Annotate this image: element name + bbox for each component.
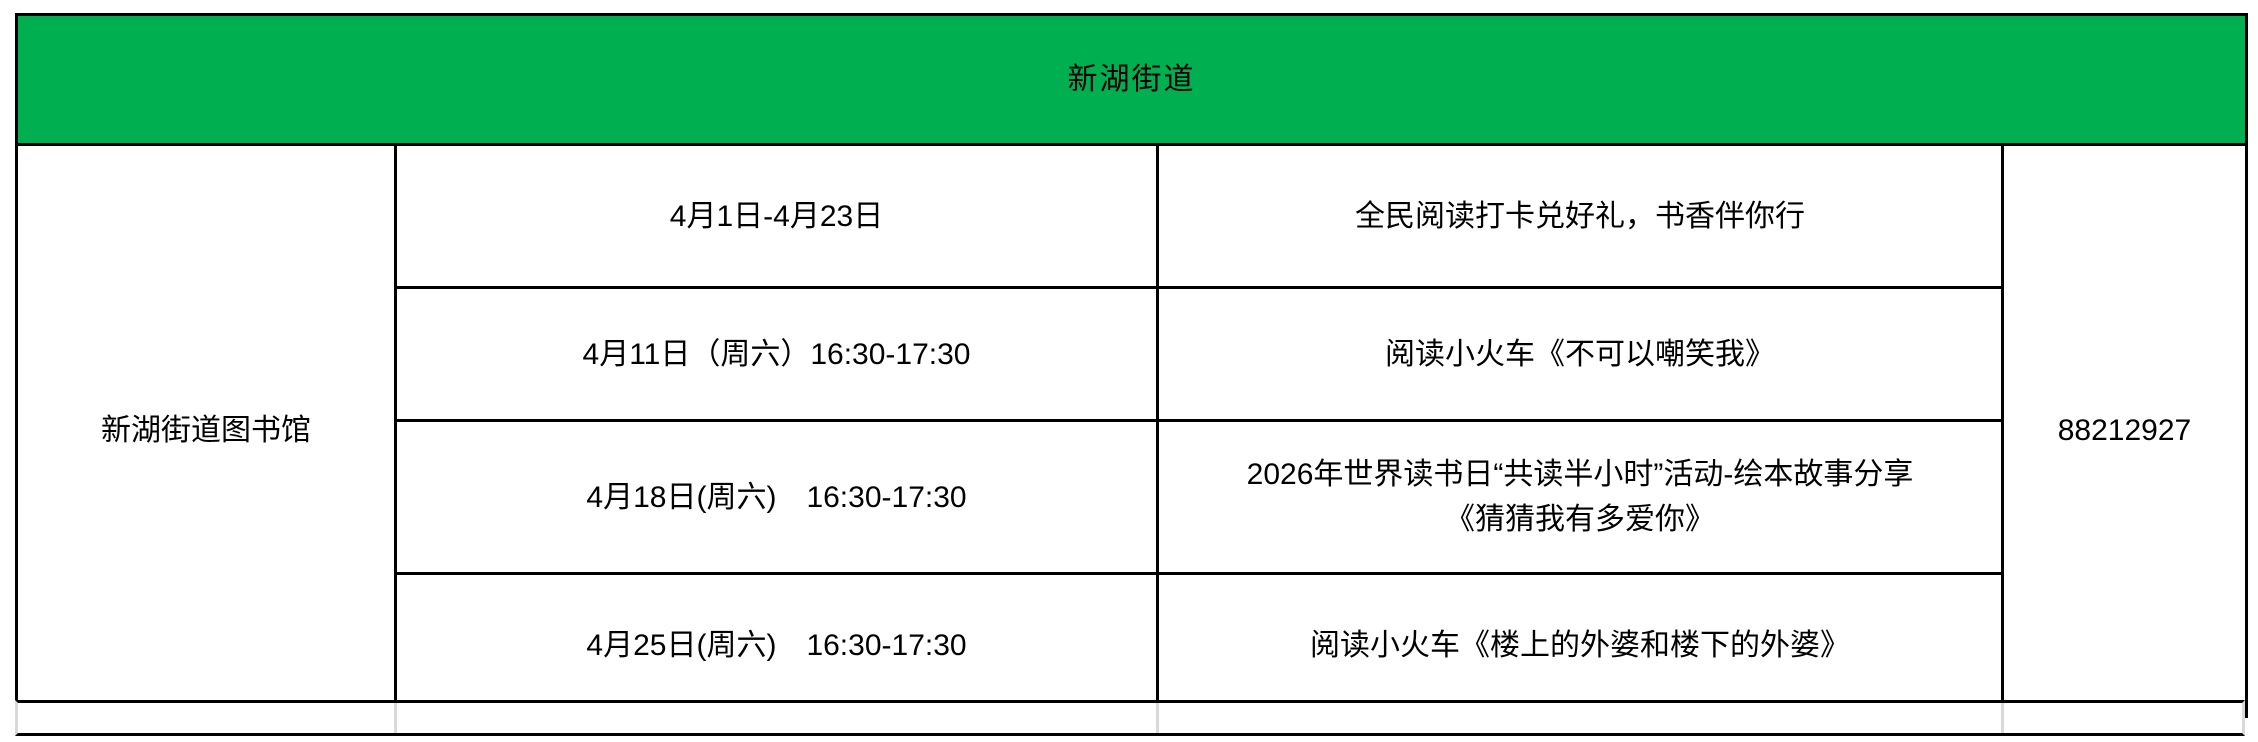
activity-line: 阅读小火车《楼上的外婆和楼下的外婆》 (1159, 623, 2001, 668)
date-cell: 4月1日-4月23日 (396, 145, 1158, 288)
banner-title: 新湖街道 (17, 15, 2247, 145)
activity-cell: 阅读小火车《不可以嘲笑我》 (1158, 288, 2003, 421)
date-cell: 4月11日（周六）16:30-17:30 (396, 288, 1158, 421)
column-divider (1156, 703, 1159, 733)
organization-cell: 新湖街道图书馆 (17, 145, 396, 717)
column-divider (394, 703, 397, 733)
date-cell: 4月25日(周六) 16:30-17:30 (396, 574, 1158, 717)
spreadsheet-page: 新湖街道 新湖街道图书馆 4月1日-4月23日 全民阅读打卡兑好礼，书香伴你行 … (0, 0, 2258, 742)
activity-cell: 全民阅读打卡兑好礼，书香伴你行 (1158, 145, 2003, 288)
activity-line: 《猜猜我有多爱你》 (1159, 497, 2001, 542)
activity-cell: 2026年世界读书日“共读半小时”活动-绘本故事分享 《猜猜我有多爱你》 (1158, 421, 2003, 574)
activity-table-container: 新湖街道 新湖街道图书馆 4月1日-4月23日 全民阅读打卡兑好礼，书香伴你行 … (15, 13, 2245, 718)
activity-cell: 阅读小火车《楼上的外婆和楼下的外婆》 (1158, 574, 2003, 717)
activity-table: 新湖街道 新湖街道图书馆 4月1日-4月23日 全民阅读打卡兑好礼，书香伴你行 … (15, 13, 2248, 718)
next-table-row-partial (15, 700, 2245, 736)
table-row: 新湖街道图书馆 4月1日-4月23日 全民阅读打卡兑好礼，书香伴你行 88212… (17, 145, 2247, 288)
table-header-row: 新湖街道 (17, 15, 2247, 145)
date-cell: 4月18日(周六) 16:30-17:30 (396, 421, 1158, 574)
telephone-cell: 88212927 (2003, 145, 2247, 717)
activity-line: 阅读小火车《不可以嘲笑我》 (1159, 332, 2001, 377)
activity-line: 2026年世界读书日“共读半小时”活动-绘本故事分享 (1159, 452, 2001, 497)
column-divider (2001, 703, 2004, 733)
activity-line: 全民阅读打卡兑好礼，书香伴你行 (1159, 194, 2001, 239)
